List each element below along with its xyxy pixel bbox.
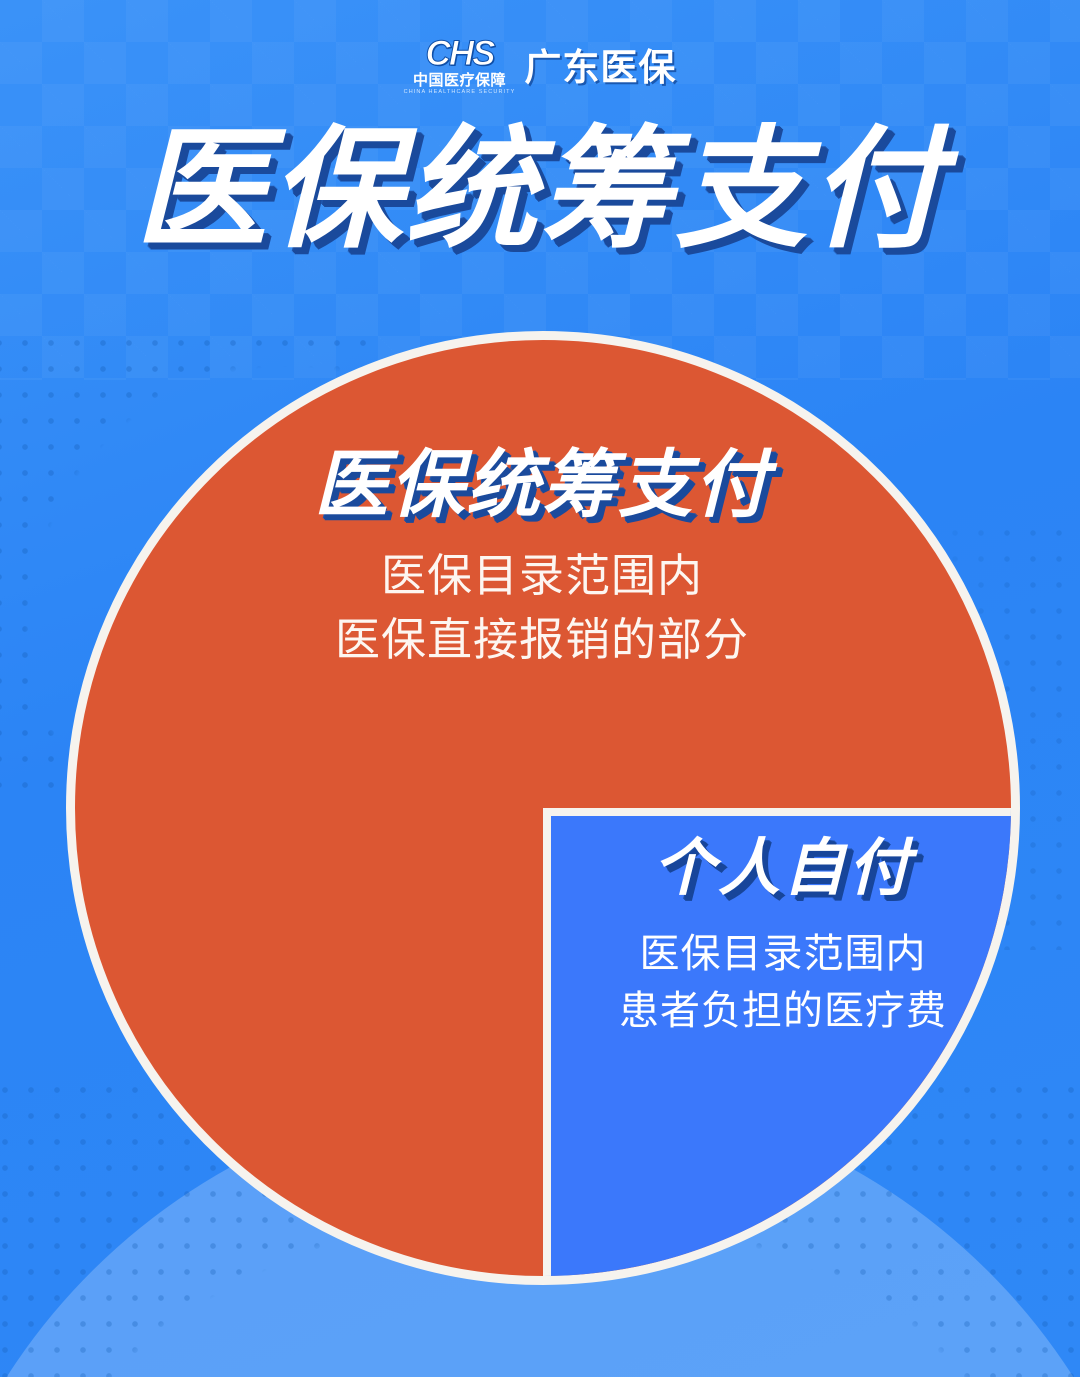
brand-en-name: CHINA HEALTHCARE SECURITY bbox=[404, 90, 516, 96]
pie-slice-medical-pooling bbox=[66, 331, 1020, 1285]
brand-province-label: 广东医保 bbox=[524, 37, 676, 91]
page-title: 医保统筹支付 bbox=[0, 124, 1080, 256]
brand-cn-name: 中国医疗保障 bbox=[413, 73, 506, 88]
pie-slice-self-pay bbox=[543, 808, 1011, 1276]
brand-acronym: CHS bbox=[426, 36, 494, 71]
brand-header: CHS 中国医疗保障 CHINA HEALTHCARE SECURITY 广东医… bbox=[0, 36, 1080, 96]
chs-logo-icon: CHS 中国医疗保障 CHINA HEALTHCARE SECURITY bbox=[404, 36, 516, 96]
poster-canvas: CHS 中国医疗保障 CHINA HEALTHCARE SECURITY 广东医… bbox=[0, 0, 1080, 1377]
